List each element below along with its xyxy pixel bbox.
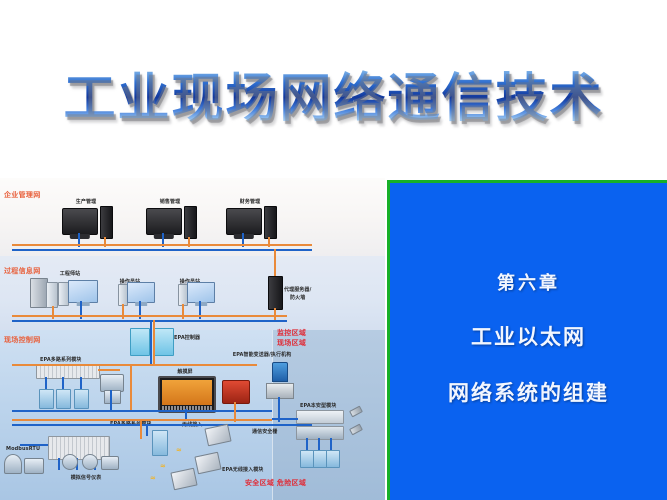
- caption-finance-mgmt: 财务管理: [240, 198, 260, 205]
- module-leg-2: [62, 377, 64, 389]
- caption-analog-instruments: 模拟信号仪表: [71, 474, 102, 481]
- bus-field-blue-mid: [12, 410, 272, 412]
- caption-epa-intrinsic-module: EPA本安型模块: [300, 402, 336, 409]
- bus-enterprise-blue: [12, 249, 312, 251]
- caption-epa-multi-module-1: EPA多路系列模块: [40, 356, 81, 363]
- hmi-touch-panel: [158, 376, 216, 413]
- caption-firewall: 防火墙: [290, 294, 305, 301]
- intrinsic-field-device-1: [300, 450, 314, 468]
- uplink-orange-proxy: [274, 249, 276, 276]
- chapter-text-block: 第六章 工业以太网 网络系统的组建: [390, 269, 667, 433]
- barrier-link-blue: [272, 418, 298, 420]
- barrier-leg-3: [330, 438, 332, 450]
- workstation-monitor-op2: [187, 282, 215, 303]
- module-link-orange-1: [98, 369, 120, 371]
- analog-instrument-1: [62, 454, 78, 470]
- zone-label-field: 现场控制网: [4, 335, 41, 345]
- pc-monitor-sales: [146, 208, 182, 235]
- drop-orange-wireless: [140, 419, 142, 439]
- zone-label-process: 过程信息网: [4, 266, 41, 276]
- downlink-orange-proxy: [274, 308, 276, 320]
- caption-engineer-station: 工程师站: [60, 270, 80, 277]
- bus-field-orange-upper: [12, 364, 257, 366]
- pc-tower-production: [100, 206, 113, 239]
- bus-process-orange: [12, 315, 287, 317]
- controller-uplink-blue: [150, 320, 152, 366]
- server-side-unit: [46, 282, 58, 308]
- pc-monitor-finance: [226, 208, 262, 235]
- barrier-leg-1: [306, 438, 308, 450]
- modbus-link: [20, 444, 48, 446]
- analog-device-b: [24, 458, 44, 474]
- pc-tower-sales: [184, 206, 197, 239]
- epa-controller-a: [130, 328, 150, 356]
- caption-proxy-server: 代理服务器/: [284, 286, 311, 293]
- page-title: 工业现场网络通信技术: [0, 70, 667, 127]
- network-architecture-diagram: 企业管理网 过程信息网 现场控制网 监控区域 现场区域 安全区域 危险区域 生产…: [0, 178, 385, 500]
- wireless-wave-icon-1: ≈: [176, 446, 182, 454]
- analog-instrument-2: [82, 454, 98, 470]
- pc-monitor-production: [62, 208, 98, 235]
- zone-label-site-area: 现场区域: [277, 338, 306, 348]
- caption-epa-smart-transmitter: EPA智能变送器/执行机构: [233, 351, 292, 358]
- field-device-1: [39, 389, 54, 409]
- zone-label-enterprise: 企业管理网: [4, 190, 41, 200]
- control-valve-body: [266, 383, 294, 399]
- field-device-3: [74, 389, 89, 409]
- proxy-firewall-appliance: [268, 276, 283, 310]
- epa-controller-b: [154, 328, 174, 356]
- drop-orange-srv: [52, 306, 54, 319]
- hmi-screen: [162, 380, 212, 405]
- caption-production-mgmt: 生产管理: [76, 198, 96, 205]
- zone-label-safety-hazard: 安全区域 危险区域: [245, 478, 306, 488]
- transmitter-manifold: [104, 390, 121, 404]
- intrinsic-field-device-2: [313, 450, 327, 468]
- field-device-2: [56, 389, 71, 409]
- analog-device-a: [4, 454, 22, 474]
- module-leg-3: [80, 377, 82, 389]
- workstation-monitor-engineer: [68, 280, 98, 303]
- caption-epa-controller: EPA控制器: [174, 334, 200, 341]
- caption-sales-mgmt: 销售管理: [160, 198, 180, 205]
- module-leg-1: [45, 377, 47, 389]
- comm-safety-barrier: [296, 426, 344, 440]
- chapter-subtopic: 网络系统的组建: [390, 377, 667, 407]
- chapter-title-panel: 第六章 工业以太网 网络系统的组建: [387, 180, 667, 500]
- actuator-red: [222, 380, 250, 404]
- controller-uplink-orange: [153, 320, 155, 366]
- wireless-wave-icon-3: ≈: [150, 474, 156, 482]
- epa-intrinsic-module: [296, 410, 344, 424]
- chapter-topic: 工业以太网: [390, 321, 667, 351]
- modbus-leg-1: [58, 458, 60, 470]
- bus-enterprise-orange: [12, 244, 312, 246]
- caption-modbus-rtu: ModbusRTU: [6, 446, 40, 452]
- analog-instrument-3: [101, 456, 119, 470]
- actuator-blue: [272, 362, 288, 382]
- drop-orange-hmi: [130, 364, 132, 410]
- bus-field-blue-lower: [12, 424, 312, 426]
- caption-epa-wireless-module: EPA无线接入模块: [222, 466, 263, 473]
- caption-comm-safety-barrier: 通信安全栅: [252, 428, 278, 435]
- drop-blue-wireless: [146, 424, 148, 436]
- wireless-wave-icon-2: ≈: [160, 462, 166, 470]
- workstation-monitor-op1: [127, 282, 155, 303]
- wireless-access-unit: [152, 430, 168, 456]
- bus-field-orange-lower: [12, 419, 272, 421]
- chapter-number: 第六章: [390, 269, 667, 295]
- zone-label-monitor-area: 监控区域: [277, 328, 306, 338]
- intrinsic-field-device-3: [326, 450, 340, 468]
- caption-touch-panel: 触摸屏: [177, 368, 192, 375]
- drop-blue-transmitter: [110, 390, 112, 410]
- barrier-leg-2: [318, 438, 320, 450]
- pc-tower-finance: [264, 206, 277, 239]
